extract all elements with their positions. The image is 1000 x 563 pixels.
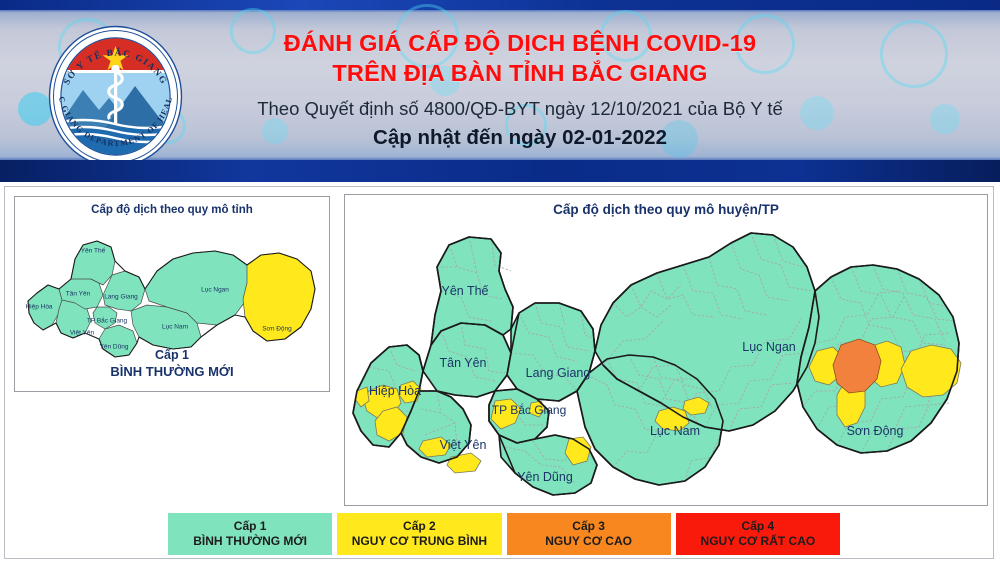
legend-label: NGUY CƠ RẤT CAO [701,534,816,549]
legend-level: Cấp 4 [742,519,775,534]
legend-label: NGUY CƠ TRUNG BÌNH [352,534,487,549]
legend-level: Cấp 2 [403,519,436,534]
legend: Cấp 1 BÌNH THƯỜNG MỚI Cấp 2 NGUY CƠ TRUN… [168,513,840,555]
legend-item-level-3[interactable]: Cấp 3 NGUY CƠ CAO [507,513,671,555]
province-level-line2: BÌNH THƯỜNG MỚI [15,363,329,380]
district-scale-panel: Cấp độ dịch theo quy mô huyện/TP [344,194,988,506]
header-bottom-band [0,160,1000,182]
legend-level: Cấp 1 [234,519,267,534]
health-department-emblem: SỞ Y TẾ BẮC GIANG BAC GIANG DEPARTMENT O… [43,24,188,169]
legend-level: Cấp 3 [572,519,605,534]
district-scale-map [345,195,987,505]
infographic-root: SỞ Y TẾ BẮC GIANG BAC GIANG DEPARTMENT O… [0,0,1000,563]
legend-label: NGUY CƠ CAO [545,534,632,549]
title-line-1: ĐÁNH GIÁ CẤP ĐỘ DỊCH BỆNH COVID-19 [200,28,840,58]
province-level-caption: Cấp 1 BÌNH THƯỜNG MỚI [15,347,329,380]
legend-item-level-2[interactable]: Cấp 2 NGUY CƠ TRUNG BÌNH [337,513,501,555]
header-top-band [0,0,1000,10]
header-title-block: ĐÁNH GIÁ CẤP ĐỘ DỊCH BỆNH COVID-19 TRÊN … [200,28,840,152]
header-banner: SỞ Y TẾ BẮC GIANG BAC GIANG DEPARTMENT O… [0,0,1000,182]
province-scale-panel: Cấp độ dịch theo quy mô tỉnh [14,196,330,392]
title-line-2: TRÊN ĐỊA BÀN TỈNH BẮC GIANG [200,58,840,88]
legend-item-level-1[interactable]: Cấp 1 BÌNH THƯỜNG MỚI [168,513,332,555]
province-level-line1: Cấp 1 [15,347,329,363]
virus-icon [930,104,960,134]
virus-icon [880,20,948,88]
header-updated-date: Cập nhật đến ngày 02-01-2022 [200,124,840,152]
legend-label: BÌNH THƯỜNG MỚI [193,534,307,549]
legend-item-level-4[interactable]: Cấp 4 NGUY CƠ RẤT CAO [676,513,840,555]
header-subtitle: Theo Quyết định số 4800/QĐ-BYT ngày 12/1… [200,94,840,124]
